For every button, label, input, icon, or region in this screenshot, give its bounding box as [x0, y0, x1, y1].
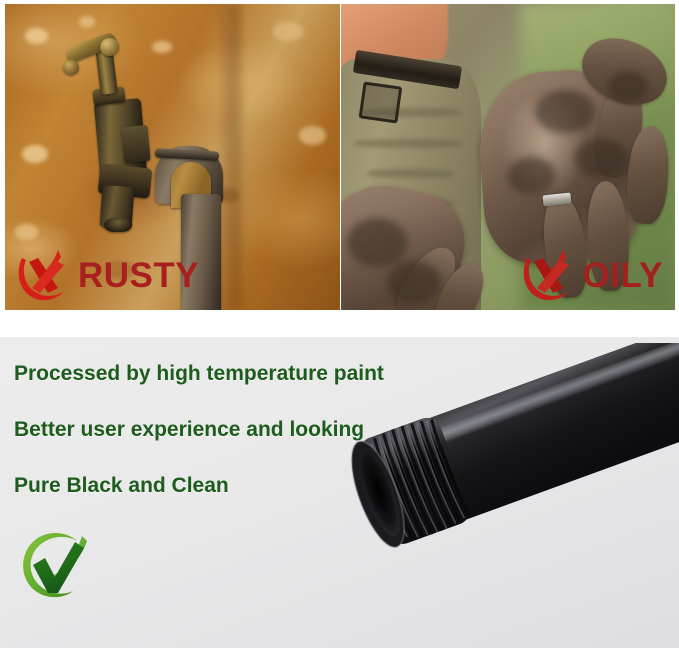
comparison-row: RUSTY	[0, 0, 679, 313]
red-x-icon	[14, 246, 74, 304]
badge-oily: OILY	[519, 246, 663, 304]
feature-text-list: Processed by high temperature paint Bett…	[14, 363, 384, 531]
badge-label-oily: OILY	[583, 258, 663, 293]
product-feature-image: RUSTY	[0, 0, 679, 648]
photo-card-oily: OILY	[341, 4, 676, 310]
feature-panel: Processed by high temperature paint Bett…	[0, 337, 679, 648]
product-pipe	[338, 343, 679, 603]
belt-buckle	[358, 81, 402, 123]
feature-line: Processed by high temperature paint	[14, 363, 384, 384]
green-check-icon	[14, 527, 96, 607]
badge-label-rusty: RUSTY	[78, 258, 199, 293]
photo-card-rusty: RUSTY	[5, 4, 340, 310]
red-x-icon	[519, 246, 579, 304]
badge-rusty: RUSTY	[14, 246, 199, 304]
feature-line: Pure Black and Clean	[14, 475, 384, 496]
feature-line: Better user experience and looking	[14, 419, 384, 440]
